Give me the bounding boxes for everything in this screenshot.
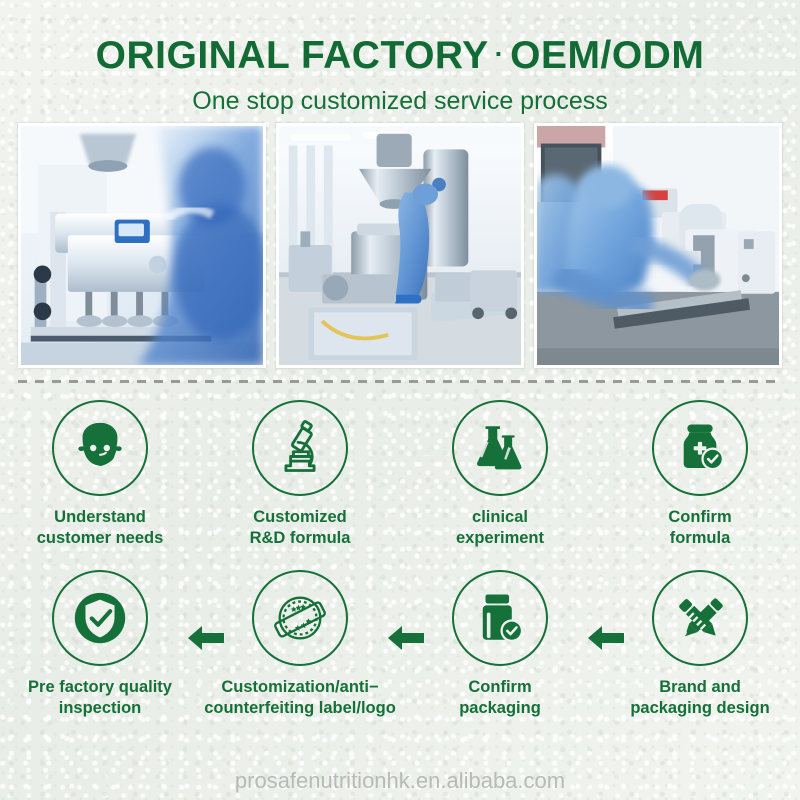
step-label: clinical experiment	[398, 507, 603, 549]
arrow-left-icon-3	[586, 623, 626, 653]
process-flow-row-2: Pre factory quality inspection	[0, 570, 800, 755]
photo-granulation-room	[276, 123, 524, 368]
shield-check-icon	[69, 587, 131, 649]
step-icon-circle	[252, 570, 348, 666]
flasks-icon	[471, 419, 529, 477]
microscope-icon	[270, 418, 330, 478]
title-part-2: OEM/ODM	[510, 34, 704, 77]
section-divider	[18, 380, 782, 383]
step-label: Customized R&D formula	[198, 507, 403, 549]
photo-packaging-line	[534, 123, 782, 368]
step-icon-circle	[52, 400, 148, 496]
alibaba-watermark: prosafenutritionhk.en.alibaba.com	[0, 768, 800, 794]
step-icon-circle	[452, 570, 548, 666]
packaging-bottle-check-icon	[471, 589, 529, 647]
arrow-left-icon-2	[386, 623, 426, 653]
step-pre-factory-quality-inspection[interactable]: Pre factory quality inspection	[0, 570, 200, 755]
step-confirm-formula[interactable]: Confirm formula	[600, 400, 800, 570]
step-customized-rd-formula[interactable]: Customized R&D formula	[200, 400, 400, 570]
poster-header: ORIGINAL FACTORY·OEM/ODM One stop custom…	[0, 0, 800, 119]
step-label: Confirm formula	[598, 507, 800, 549]
arrow-left-icon-1	[186, 623, 226, 653]
step-label: Confirm packaging	[398, 677, 603, 719]
step-label: Pre factory quality inspection	[0, 677, 203, 719]
customer-service-headset-icon	[69, 417, 131, 479]
step-confirm-packaging[interactable]: Confirm packaging	[400, 570, 600, 755]
step-icon-circle	[52, 570, 148, 666]
process-flow-row-1: Understand customer needs Customized R&D…	[0, 400, 800, 570]
pen-pencil-design-icon	[671, 589, 729, 647]
step-icon-circle	[452, 400, 548, 496]
step-icon-circle	[252, 400, 348, 496]
title-part-1: ORIGINAL FACTORY	[96, 34, 489, 77]
step-label: Understand customer needs	[0, 507, 203, 549]
page-subtitle: One stop customized service process	[0, 83, 800, 119]
step-label: Brand and packaging design	[598, 677, 800, 719]
factory-photo-strip	[18, 123, 782, 368]
supplement-bottle-check-icon	[671, 419, 729, 477]
page-title: ORIGINAL FACTORY·OEM/ODM	[0, 30, 800, 80]
step-clinical-experiment[interactable]: clinical experiment	[400, 400, 600, 570]
step-icon-circle	[652, 570, 748, 666]
process-flow: Understand customer needs Customized R&D…	[0, 400, 800, 755]
step-icon-circle	[652, 400, 748, 496]
anti-counterfeit-label-icon	[269, 587, 331, 649]
title-separator: ·	[489, 39, 511, 69]
step-label: Customization/anti− counterfeiting label…	[198, 677, 403, 719]
step-understand-customer-needs[interactable]: Understand customer needs	[0, 400, 200, 570]
step-brand-and-packaging-design[interactable]: Brand and packaging design	[600, 570, 800, 755]
step-customization-anti-counterfeiting-label[interactable]: Customization/anti− counterfeiting label…	[200, 570, 400, 755]
photo-capping-machine	[18, 123, 266, 368]
